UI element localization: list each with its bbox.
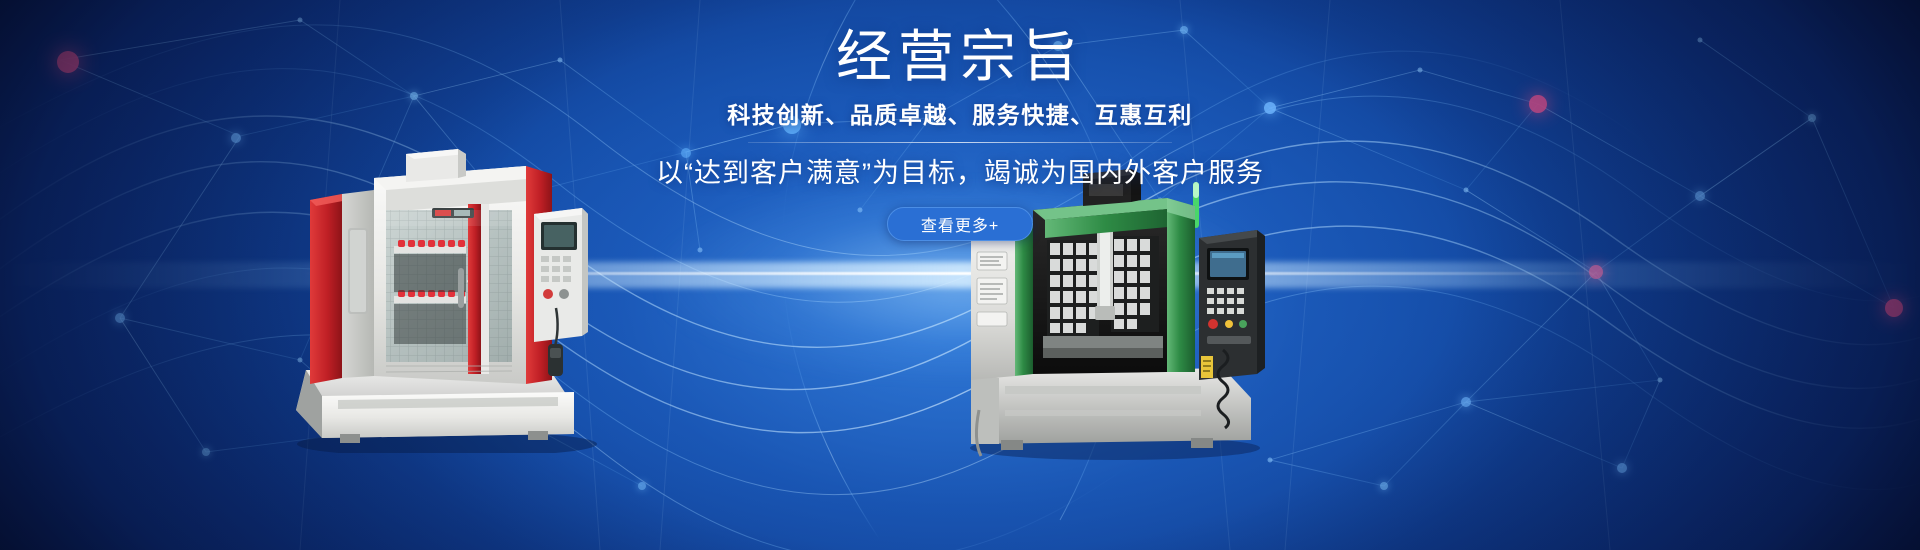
cta-wrap: 查看更多+ [0, 207, 1920, 241]
decorative-dot [1589, 265, 1603, 279]
view-more-button[interactable]: 查看更多+ [887, 207, 1033, 241]
decorative-dot [638, 482, 646, 490]
decorative-dot [115, 313, 125, 323]
page-title: 经营宗旨 [0, 24, 1920, 90]
decorative-dot [1380, 482, 1388, 490]
divider-wrap [0, 142, 1920, 143]
decorative-dot [1885, 299, 1903, 317]
banner-subtitle: 科技创新、品质卓越、服务快捷、互惠互利 [0, 100, 1920, 130]
decorative-dot [1617, 463, 1627, 473]
banner-tagline: 以“达到客户满意”为目标，竭诚为国内外客户服务 [0, 156, 1920, 190]
hero-banner: 经营宗旨 科技创新、品质卓越、服务快捷、互惠互利 以“达到客户满意”为目标，竭诚… [0, 0, 1920, 550]
banner-content: 经营宗旨 科技创新、品质卓越、服务快捷、互惠互利 以“达到客户满意”为目标，竭诚… [0, 24, 1920, 241]
decorative-dot [202, 448, 210, 456]
divider-line [748, 142, 1172, 143]
decorative-dot [1461, 397, 1471, 407]
